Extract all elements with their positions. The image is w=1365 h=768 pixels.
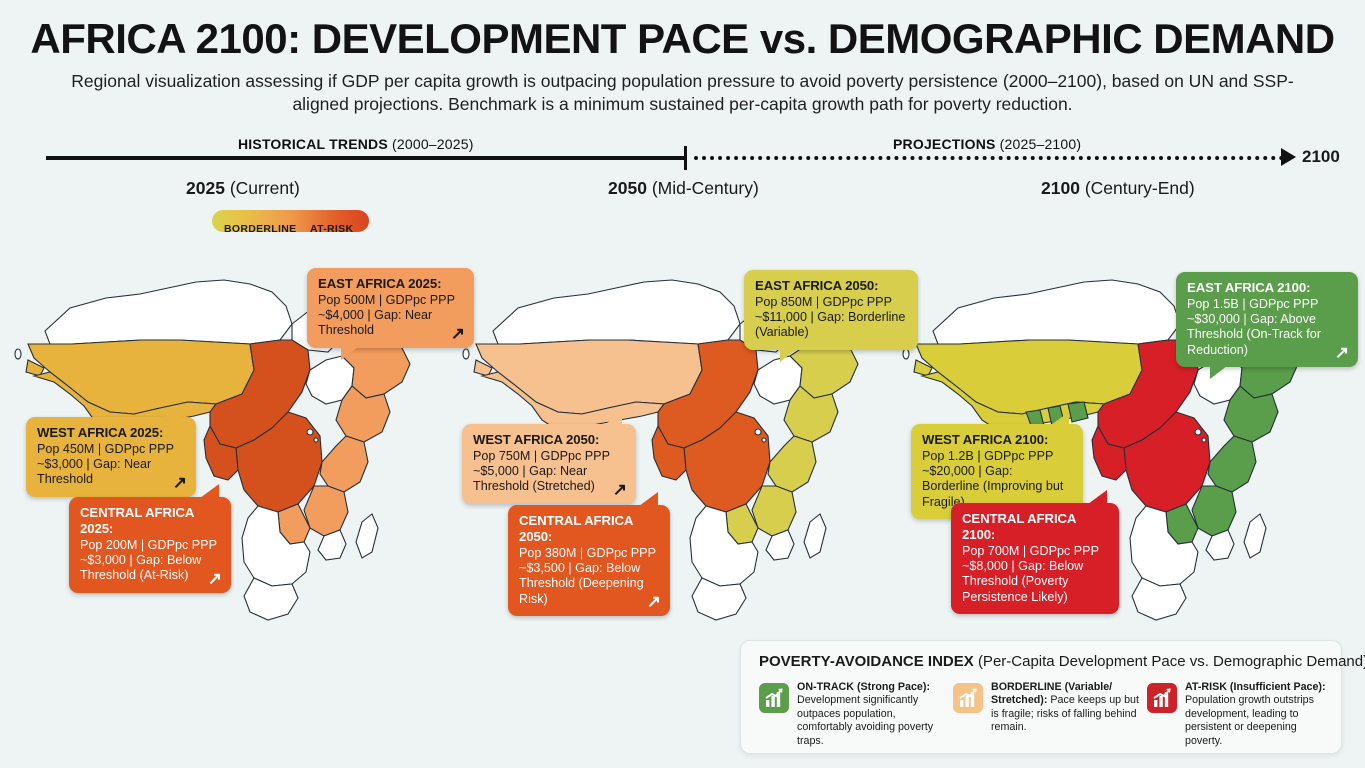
chart-up-icon [759,683,789,713]
callout-central-africa-2025[interactable]: CENTRAL AFRICA 2025: Pop 200M | GDPpc PP… [69,497,231,593]
callout-body: Pop 1.5B | GDPpc PPP ~$30,000 | Gap: Abo… [1187,297,1347,358]
callout-heading: CENTRAL AFRICA 2025: [80,505,220,537]
callout-body: Pop 750M | GDPpc PPP ~$5,000 | Gap: Near… [473,449,625,495]
callout-tail [164,405,182,418]
callout-heading: WEST AFRICA 2050: [473,432,625,448]
map-title-2025: 2025 (Current) [186,178,300,199]
callout-tail [639,492,658,506]
callout-arrow-icon: ↗ [173,474,187,491]
callout-west-africa-2025[interactable]: WEST AFRICA 2025: Pop 450M | GDPpc PPP ~… [26,417,196,497]
callout-heading: WEST AFRICA 2025: [37,425,185,441]
callout-heading: CENTRAL AFRICA 2100: [962,511,1108,543]
callout-body: Pop 500M | GDPpc PPP ~$4,000 | Gap: Near… [318,293,463,339]
callout-body: Pop 200M | GDPpc PPP ~$3,000 | Gap: Belo… [80,538,220,584]
callout-heading: EAST AFRICA 2100: [1187,280,1347,296]
callout-heading: EAST AFRICA 2025: [318,276,463,292]
timeline-midpoint-tick [684,146,687,170]
callout-arrow-icon: ↗ [1335,344,1349,361]
callout-central-africa-2100[interactable]: CENTRAL AFRICA 2100: Pop 700M | GDPpc PP… [951,503,1119,614]
gradient-low-label: BORDERLINE [224,223,296,235]
page-title: AFRICA 2100: DEVELOPMENT PACE vs. DEMOGR… [0,18,1365,61]
callout-arrow-icon: ↗ [647,593,661,610]
timeline-solid-axis [46,156,686,160]
timeline-projection-label: PROJECTIONS (2025–2100) [893,136,1081,152]
callout-west-africa-2050[interactable]: WEST AFRICA 2050: Pop 750M | GDPpc PPP ~… [462,424,636,504]
legend-item-text: BORDERLINE (Variable/ Stretched): Pace k… [991,681,1141,735]
callout-arrow-icon: ↗ [208,570,222,587]
legend-title: POVERTY-AVOIDANCE INDEX (Per-Capita Deve… [759,653,1365,670]
callout-east-africa-2025[interactable]: EAST AFRICA 2025: Pop 500M | GDPpc PPP ~… [307,268,474,348]
callout-east-africa-2100[interactable]: EAST AFRICA 2100: Pop 1.5B | GDPpc PPP ~… [1176,272,1358,367]
timeline-dashed-axis [694,156,1284,160]
legend-panel: POVERTY-AVOIDANCE INDEX (Per-Capita Deve… [740,640,1342,754]
infographic-canvas: AFRICA 2100: DEVELOPMENT PACE vs. DEMOGR… [0,0,1365,768]
callout-body: Pop 850M | GDPpc PPP ~$11,000 | Gap: Bor… [755,295,907,341]
gradient-high-label: AT-RISK [310,223,353,235]
callout-tail [780,349,797,362]
callout-heading: WEST AFRICA 2100: [922,432,1072,448]
callout-body: Pop 1.2B | GDPpc PPP ~$20,000 | Gap: Bor… [922,449,1072,510]
legend-item-text: ON-TRACK (Strong Pace): Development sign… [797,681,947,748]
timeline-historical-label: HISTORICAL TRENDS (2000–2025) [238,136,474,152]
callout-body: Pop 380M | GDPpc PPP ~$3,500 | Gap: Belo… [519,546,659,607]
callout-east-africa-2050[interactable]: EAST AFRICA 2050: Pop 850M | GDPpc PPP ~… [744,270,918,350]
callout-tail [1088,490,1107,504]
callout-tail [1051,412,1069,425]
callout-tail [1210,366,1227,379]
chart-up-icon [1147,683,1177,713]
callout-body: Pop 700M | GDPpc PPP ~$8,000 | Gap: Belo… [962,544,1108,605]
map-title-2100: 2100 (Century-End) [1041,178,1195,199]
map-title-2050: 2050 (Mid-Century) [608,178,759,199]
callout-tail [341,347,358,360]
legend-item-text: AT-RISK (Insufficient Pace): Population … [1185,681,1335,748]
callout-tail [200,484,219,498]
timeline-end-label: 2100 [1302,147,1340,167]
callout-body: Pop 450M | GDPpc PPP ~$3,000 | Gap: Near… [37,442,185,488]
callout-heading: CENTRAL AFRICA 2050: [519,513,659,545]
callout-heading: EAST AFRICA 2050: [755,278,907,294]
callout-central-africa-2050[interactable]: CENTRAL AFRICA 2050: Pop 380M | GDPpc PP… [508,505,670,616]
page-subtitle: Regional visualization assessing if GDP … [58,70,1308,116]
callout-arrow-icon: ↗ [451,325,465,342]
timeline-arrow-icon [1281,148,1296,166]
chart-up-icon [953,683,983,713]
callout-arrow-icon: ↗ [613,481,627,498]
callout-tail [604,412,622,425]
